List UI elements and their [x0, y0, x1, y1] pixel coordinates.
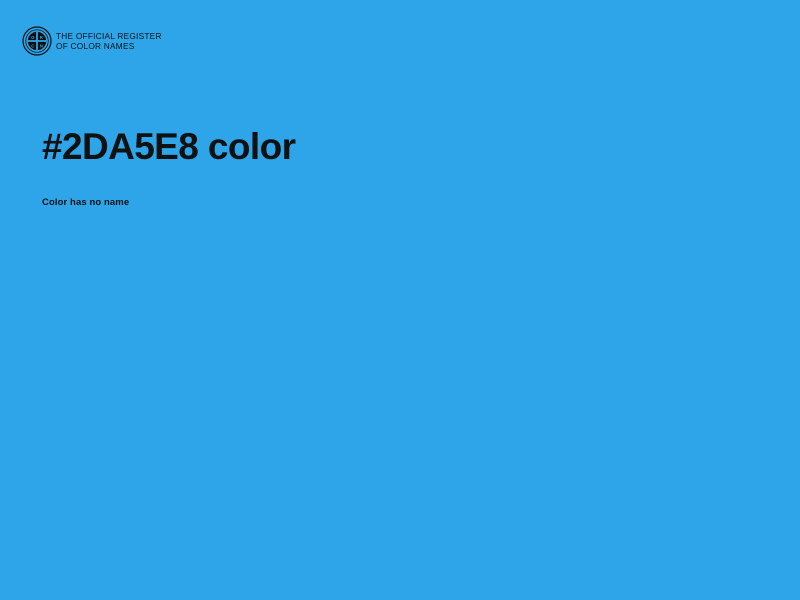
register-seal-icon: O R C N	[22, 26, 52, 56]
page-title: #2DA5E8 color	[42, 126, 760, 169]
svg-text:C: C	[31, 43, 34, 48]
svg-text:N: N	[40, 43, 43, 48]
brand-wordmark: THE OFFICIAL REGISTER OF COLOR NAMES	[56, 31, 162, 51]
svg-text:R: R	[40, 35, 43, 40]
color-name-status: Color has no name	[42, 197, 760, 208]
site-brand[interactable]: O R C N THE OFFICIAL REGISTER OF COLOR N…	[22, 26, 162, 56]
brand-line-2: OF COLOR NAMES	[56, 42, 162, 52]
main-content: #2DA5E8 color Color has no name	[42, 126, 760, 208]
